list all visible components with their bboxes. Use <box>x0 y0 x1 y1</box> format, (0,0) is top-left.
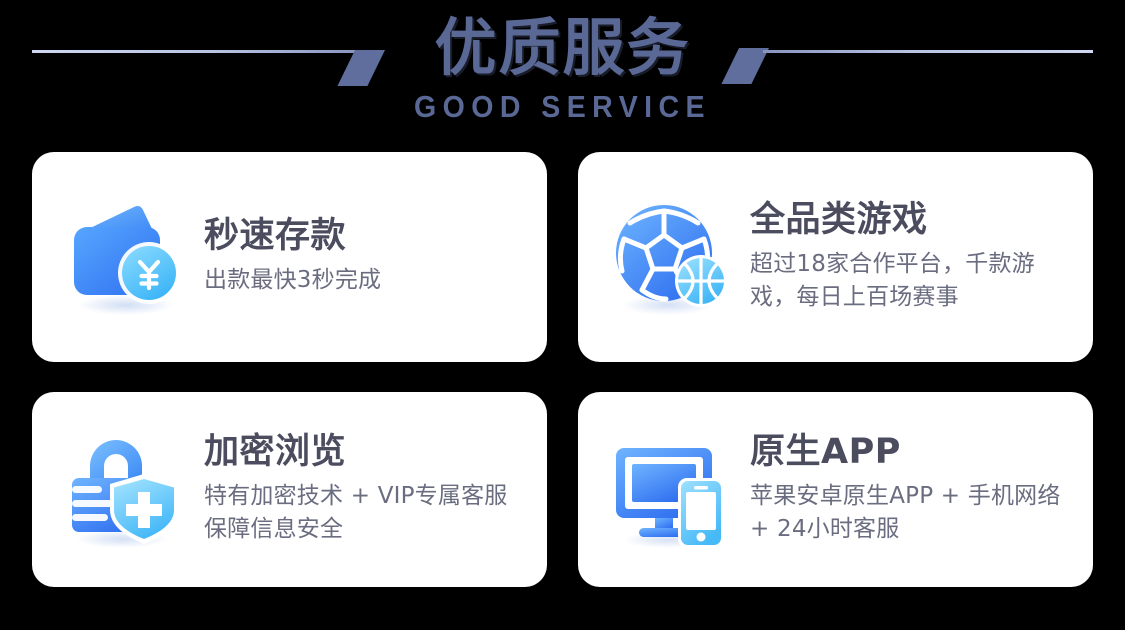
page-title: 优质服务 <box>0 0 1125 87</box>
wallet-yen-icon <box>60 193 192 321</box>
card-text-block: 原生APP 苹果安卓原生APP + 手机网络 + 24小时客服 <box>750 433 1071 546</box>
card-title: 加密浏览 <box>204 433 525 472</box>
card-description: 超过18家合作平台，千款游戏，每日上百场赛事 <box>750 248 1071 313</box>
card-text-block: 秒速存款 出款最快3秒完成 <box>204 217 525 297</box>
soccer-basketball-icon <box>606 193 738 321</box>
page-subtitle: GOOD SERVICE <box>45 87 1080 125</box>
feature-card-games[interactable]: 全品类游戏 超过18家合作平台，千款游戏，每日上百场赛事 <box>578 152 1093 362</box>
feature-card-grid: 秒速存款 出款最快3秒完成 <box>32 152 1093 587</box>
feature-card-native-app[interactable]: 原生APP 苹果安卓原生APP + 手机网络 + 24小时客服 <box>578 392 1093 587</box>
card-description: 出款最快3秒完成 <box>204 264 525 297</box>
lock-shield-icon <box>60 426 192 554</box>
page-header: 优质服务 GOOD SERVICE <box>0 0 1125 150</box>
monitor-phone-icon <box>606 426 738 554</box>
card-title: 秒速存款 <box>204 217 525 256</box>
card-description: 苹果安卓原生APP + 手机网络 + 24小时客服 <box>750 480 1071 545</box>
header-title-block: 优质服务 GOOD SERVICE <box>0 0 1125 125</box>
feature-card-deposit[interactable]: 秒速存款 出款最快3秒完成 <box>32 152 547 362</box>
card-title: 全品类游戏 <box>750 201 1071 240</box>
card-description: 特有加密技术 + VIP专属客服保障信息安全 <box>204 480 525 545</box>
card-title: 原生APP <box>750 433 1071 472</box>
feature-card-encryption[interactable]: 加密浏览 特有加密技术 + VIP专属客服保障信息安全 <box>32 392 547 587</box>
card-text-block: 加密浏览 特有加密技术 + VIP专属客服保障信息安全 <box>204 433 525 546</box>
card-text-block: 全品类游戏 超过18家合作平台，千款游戏，每日上百场赛事 <box>750 201 1071 314</box>
